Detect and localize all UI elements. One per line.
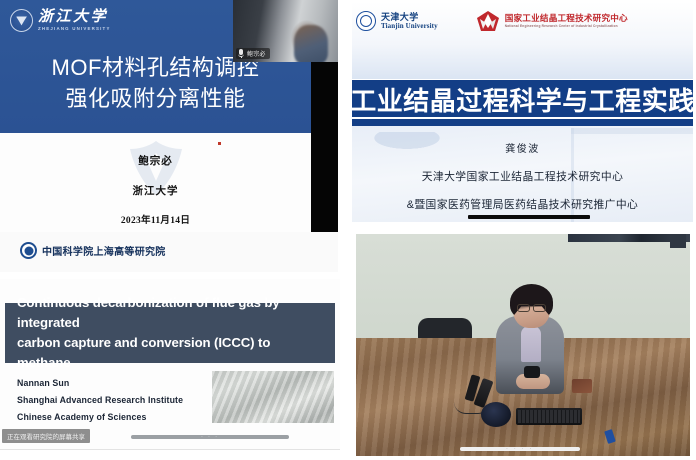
zju-slide-footer: 中国科学院上海高等研究院 <box>0 232 338 272</box>
participant-video-tile-baozongbi[interactable]: 鲍宗必 <box>233 0 338 62</box>
participant-name-badge: 鲍宗必 <box>236 48 270 59</box>
iccc-slide: Continuous decarbonization of flue gas b… <box>0 279 340 449</box>
cas-seal-icon <box>20 242 37 259</box>
zju-presenter-affiliation: 浙江大学 <box>0 183 311 198</box>
zju-presenter-name: 鲍宗必 <box>0 153 311 168</box>
panel-top-left-screen-share[interactable]: 浙江大学 ZHEJIANG UNIVERSITY MOF材料孔结构调控 强化吸附… <box>0 0 338 272</box>
iccc-slide-title-line1: Continuous decarbonization of flue gas b… <box>17 293 323 333</box>
iccc-author-name: Nannan Sun <box>17 375 183 392</box>
presenter-glasses <box>517 304 546 310</box>
participant-name-label: 鲍宗必 <box>247 49 266 58</box>
microphone-muted-icon <box>238 49 244 58</box>
iccc-affiliation-line1: Shanghai Advanced Research Institute <box>17 392 183 409</box>
tju-seal-icon <box>356 11 376 31</box>
iccc-slide-title-line2: carbon capture and conversion (ICCC) to … <box>17 333 323 373</box>
panel-bottom-right-webcam[interactable]: · · · · <box>348 231 696 460</box>
slide-scrubber-dots: · · · <box>201 434 219 440</box>
iccc-affiliation-line2: Chinese Academy of Sciences <box>17 409 183 426</box>
tju-slide-header: 天津大学 Tianjin University 国家工业结晶工程技术研究中心 <box>352 2 693 79</box>
panel-top-right-screen-share[interactable]: 天津大学 Tianjin University 国家工业结晶工程技术研究中心 <box>348 0 696 228</box>
nerc-logo-name-cn: 国家工业结晶工程技术研究中心 <box>505 13 628 23</box>
nerc-crystal-icon <box>476 10 500 32</box>
webcam-video-feed: · · · · <box>356 234 690 456</box>
tju-slide-title-bar: 工业结晶过程科学与工程实践 <box>352 80 693 126</box>
screen-share-status-banner: 正在观看研究院的屏幕共享 <box>2 429 90 443</box>
wall-board <box>670 234 686 248</box>
zju-logo-name-cn: 浙江大学 <box>38 10 111 25</box>
zju-seal-icon <box>10 9 33 32</box>
iccc-slide-title: Continuous decarbonization of flue gas b… <box>5 293 335 372</box>
table-conference-speaker <box>481 402 511 427</box>
presenter-shirt <box>521 326 541 362</box>
zhejiang-university-logo: 浙江大学 ZHEJIANG UNIVERSITY <box>10 9 111 32</box>
panel-bottom-divider <box>0 449 340 460</box>
panel-bottom-left-screen-share[interactable]: Continuous decarbonization of flue gas b… <box>0 279 340 460</box>
tju-logo-name-en: Tianjin University <box>381 22 438 30</box>
tju-slide: 天津大学 Tianjin University 国家工业结晶工程技术研究中心 <box>352 2 693 222</box>
table-wallet <box>572 379 592 393</box>
zju-slide-title-line2: 强化吸附分离性能 <box>0 83 311 114</box>
tju-affiliation-line2: &暨国家医药管理局医药结晶技术研究推广中心 <box>352 196 693 212</box>
zju-logo-name-en: ZHEJIANG UNIVERSITY <box>38 27 111 31</box>
tianjin-university-logo: 天津大学 Tianjin University <box>356 11 438 31</box>
zju-slide-date: 2023年11月14日 <box>0 212 311 226</box>
zju-slide-body: 鲍宗必 浙江大学 2023年11月14日 · · · · · · <box>0 133 311 232</box>
tju-slide-title: 工业结晶过程科学与工程实践 <box>352 87 693 119</box>
screen-share-status-label: 正在观看研究院的屏幕共享 <box>7 431 85 441</box>
tju-presenter-name: 龚俊波 <box>352 140 693 155</box>
iccc-author-block: Nannan Sun Shanghai Advanced Research In… <box>17 375 183 426</box>
iccc-slide-photo <box>212 371 334 423</box>
table-keyboard <box>516 408 582 425</box>
slide-scrubber-bar[interactable] <box>468 215 590 219</box>
tju-affiliation-line1: 天津大学国家工业结晶工程技术研究中心 <box>352 168 693 184</box>
webcam-scrubber-bar[interactable]: · · · · <box>460 447 580 451</box>
tju-slide-body: 龚俊波 天津大学国家工业结晶工程技术研究中心 &暨国家医药管理局医药结晶技术研究… <box>352 126 693 222</box>
zju-slide-red-marker <box>218 142 221 145</box>
iccc-slide-title-bar: Continuous decarbonization of flue gas b… <box>5 303 335 363</box>
slide-scrubber-bar[interactable]: · · · <box>131 435 289 439</box>
cas-sari-logo: 中国科学院上海高等研究院 <box>20 242 166 259</box>
cas-sari-logo-label: 中国科学院上海高等研究院 <box>42 243 166 258</box>
video-conference-grid: 浙江大学 ZHEJIANG UNIVERSITY MOF材料孔结构调控 强化吸附… <box>0 0 696 460</box>
tju-logo-name-cn: 天津大学 <box>381 12 438 22</box>
nerc-logo-name-en: National Engineering Research Center of … <box>505 25 628 29</box>
table-phone <box>524 366 540 378</box>
nerc-crystallization-logo: 国家工业结晶工程技术研究中心 National Engineering Rese… <box>476 10 628 32</box>
webcam-scrubber-dots: · · · · <box>506 446 534 452</box>
